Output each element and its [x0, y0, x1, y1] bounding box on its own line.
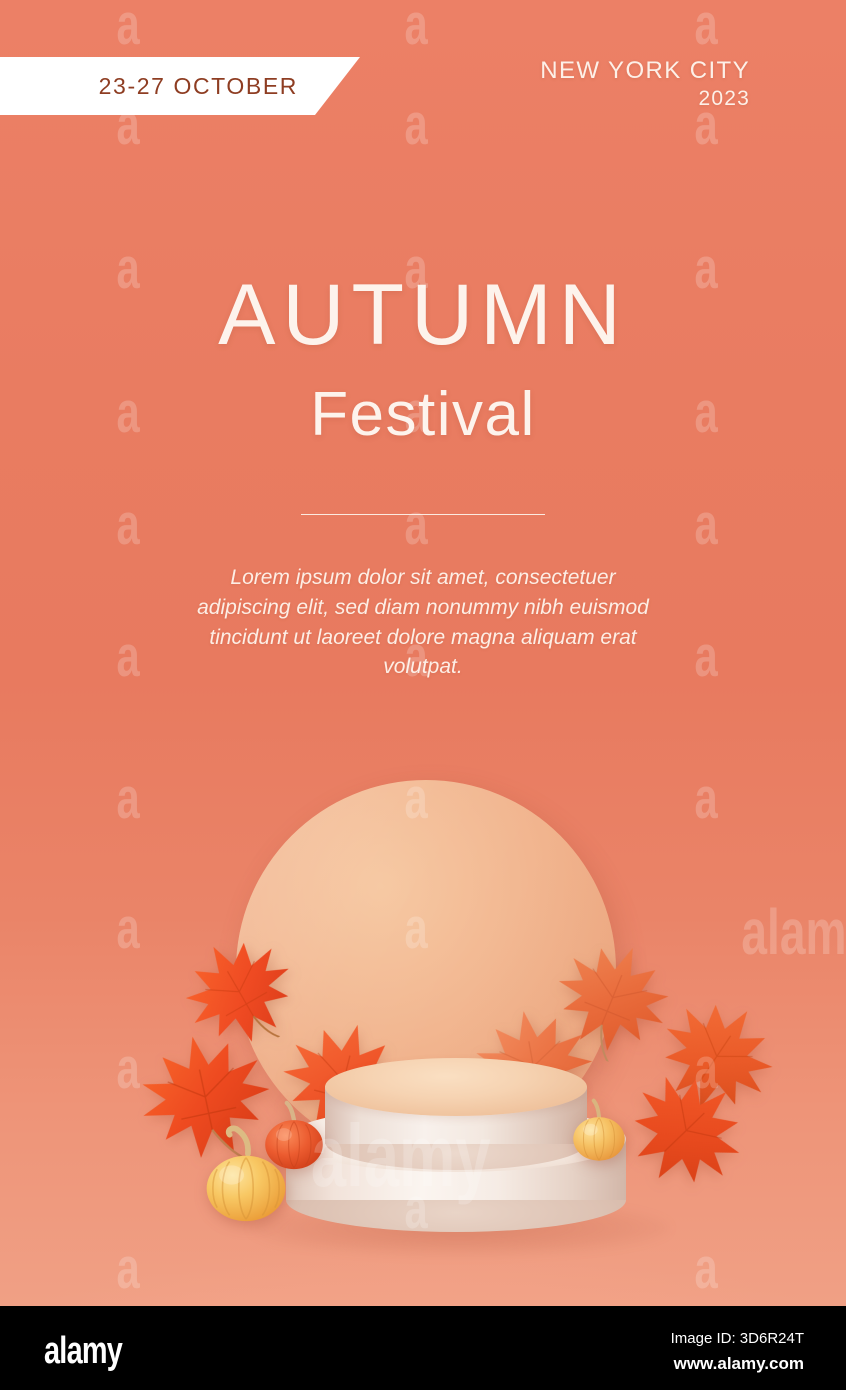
headline-block: AUTUMN Festival — [0, 272, 846, 446]
watermark-letter: a — [405, 0, 428, 54]
watermark-letter: a — [695, 496, 718, 554]
divider-rule — [301, 514, 545, 515]
location-block: NEW YORK CITY 2023 — [540, 56, 750, 112]
alamy-footer-bar: alamy Image ID: 3D6R24T www.alamy.com — [0, 1306, 846, 1390]
location-city: NEW YORK CITY — [540, 56, 750, 86]
watermark-letter: a — [695, 628, 718, 686]
date-ribbon: 23-27 OCTOBER — [0, 57, 360, 115]
headline-sub: Festival — [0, 384, 846, 446]
pumpkin-yellow-right — [566, 1096, 632, 1166]
two-tier-podium-icon — [0, 700, 846, 1306]
alamy-logo: alamy — [44, 1332, 122, 1370]
watermark-letter: a — [695, 0, 718, 54]
body-paragraph: Lorem ipsum dolor sit amet, consectetuer… — [188, 563, 658, 682]
headline-main: AUTUMN — [0, 272, 846, 358]
poster-canvas: 23-27 OCTOBER NEW YORK CITY 2023 AUTUMN … — [0, 0, 846, 1306]
location-year: 2023 — [540, 86, 750, 112]
watermark-letter: a — [117, 628, 140, 686]
watermark-letter: a — [117, 0, 140, 54]
watermark-letter: a — [117, 496, 140, 554]
alamy-meta: Image ID: 3D6R24T www.alamy.com — [671, 1328, 804, 1376]
podium-upper-top — [325, 1058, 587, 1116]
pumpkin-yellow-front — [198, 1124, 294, 1226]
product-scene — [0, 700, 846, 1306]
watermark-letter: a — [405, 96, 428, 154]
alamy-url-label[interactable]: www.alamy.com — [671, 1351, 804, 1377]
date-label: 23-27 OCTOBER — [99, 73, 298, 100]
watermark-letter: a — [405, 496, 428, 554]
image-id-label: Image ID: 3D6R24T — [671, 1328, 804, 1351]
